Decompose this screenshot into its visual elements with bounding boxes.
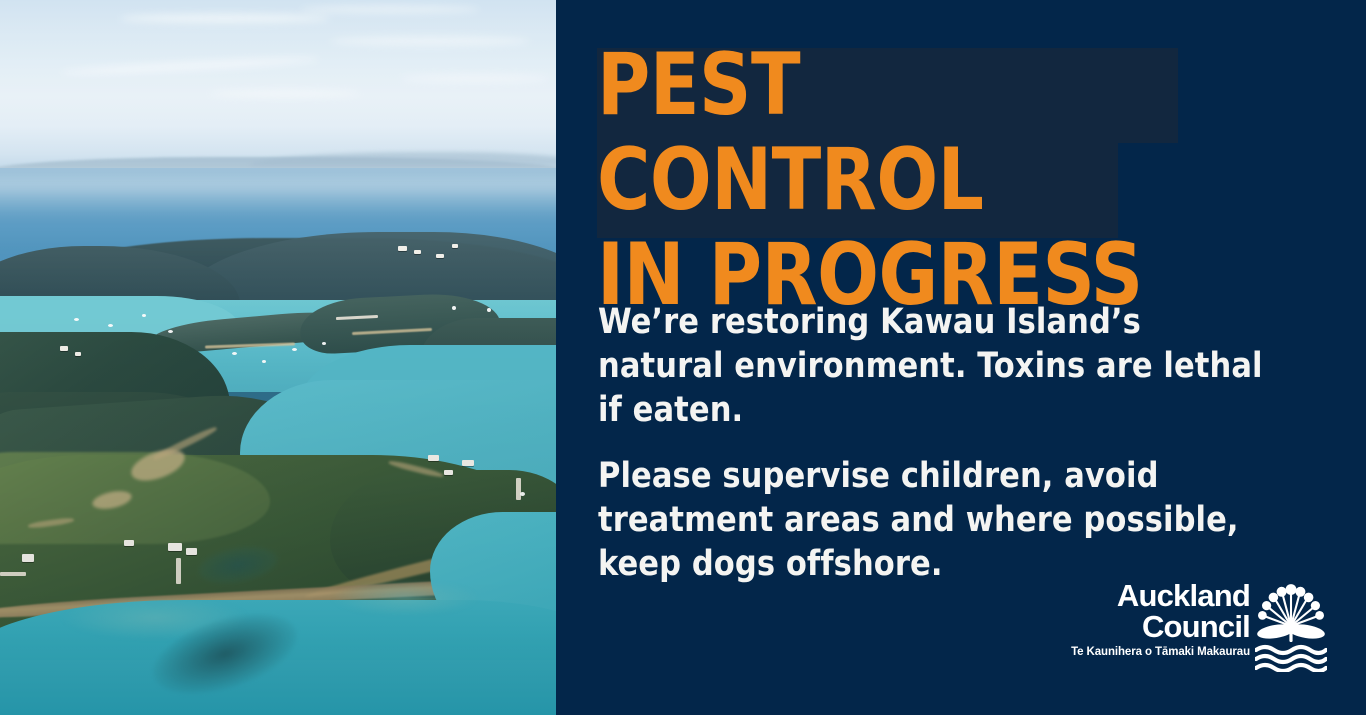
moored-boat — [74, 318, 79, 321]
moored-boat — [232, 352, 237, 355]
waterfront-house — [60, 346, 68, 351]
logo-wordmark: Auckland Council — [1065, 580, 1250, 642]
moored-boat — [142, 314, 146, 317]
cloud-wisp — [330, 36, 530, 46]
foreground-water — [0, 660, 556, 715]
cloud-wisp — [300, 6, 480, 13]
pohutukawa-flower-and-waves-icon — [1255, 580, 1327, 672]
logo-maori-subtitle: Te Kaunihera o Tāmaki Makaurau — [1065, 646, 1250, 659]
waterfront-house — [462, 460, 474, 466]
waterfront-house — [75, 352, 81, 356]
shallow-water-patch — [330, 580, 480, 616]
moored-boat — [487, 308, 491, 312]
page-title: PEST CONTROL IN PROGRESS — [597, 38, 1199, 323]
sky — [0, 0, 556, 175]
ocean-sun-glare — [0, 176, 556, 216]
moored-boat — [292, 348, 297, 351]
message-panel: PEST CONTROL IN PROGRESS We’re restoring… — [556, 0, 1366, 715]
auckland-council-logo: Auckland Council Te Kaunihera o Tāmaki M… — [1065, 580, 1325, 676]
waterfront-house — [22, 554, 34, 562]
cloud-wisp — [210, 90, 360, 97]
waterfront-house — [444, 470, 453, 475]
waterfront-house — [398, 246, 407, 251]
waterfront-house — [168, 543, 182, 551]
advisory-paragraph-2: Please supervise children, avoid treatme… — [598, 454, 1277, 586]
waterfront-house — [452, 244, 458, 248]
cloud-wisp — [400, 74, 550, 83]
poster-canvas: PEST CONTROL IN PROGRESS We’re restoring… — [0, 0, 1366, 715]
advisory-paragraph-1: We’re restoring Kawau Island’s natural e… — [598, 300, 1277, 432]
advisory-text: We’re restoring Kawau Island’s natural e… — [598, 300, 1277, 586]
aerial-photograph — [0, 0, 556, 715]
waterfront-house — [436, 254, 444, 258]
logo-wordmark-line1: Auckland — [1117, 578, 1250, 613]
waterfront-house — [414, 250, 421, 254]
moored-boat — [108, 324, 113, 327]
jetty — [516, 478, 521, 500]
waterfront-house — [428, 455, 439, 461]
cloud-wisp — [120, 14, 330, 23]
waterfront-house — [186, 548, 197, 555]
moored-boat — [452, 306, 456, 310]
jetty — [0, 572, 26, 576]
moored-boat — [520, 492, 525, 496]
moored-boat — [168, 330, 173, 333]
moored-boat — [322, 342, 326, 345]
moored-boat — [262, 360, 266, 363]
waterfront-house — [124, 540, 134, 546]
logo-wordmark-line2: Council — [1065, 611, 1250, 642]
jetty — [176, 558, 181, 584]
